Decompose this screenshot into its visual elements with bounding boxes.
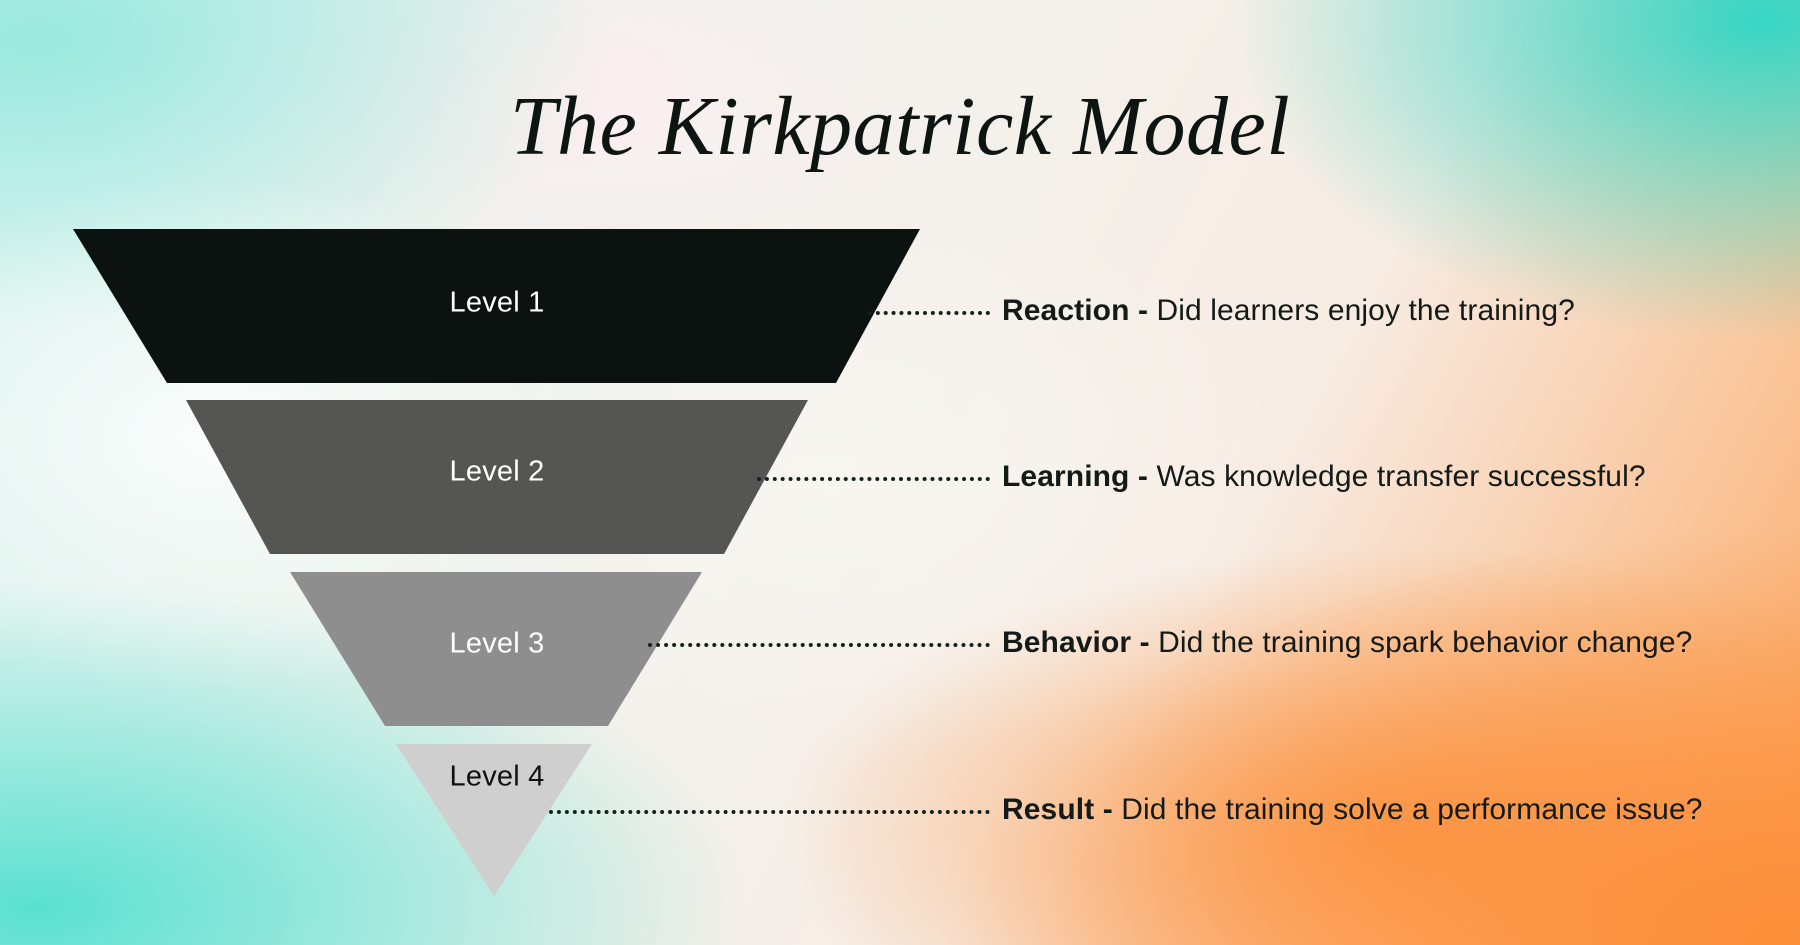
description-dash-level-2 xyxy=(1129,460,1137,493)
description-separator-level-3: - xyxy=(1140,626,1150,659)
description-level-1: Reaction - Did learners enjoy the traini… xyxy=(1002,294,1575,328)
description-level-4: Result - Did the training solve a perfor… xyxy=(1002,793,1703,827)
leader-line-level-1 xyxy=(868,311,990,315)
description-dash-level-1 xyxy=(1130,294,1138,327)
description-body-level-1: Did learners enjoy the training? xyxy=(1156,294,1574,327)
description-body-level-4: Did the training solve a performance iss… xyxy=(1121,793,1702,826)
description-level-2: Learning - Was knowledge transfer succes… xyxy=(1002,460,1646,494)
leader-line-level-4 xyxy=(549,810,990,814)
funnel-diagram: Level 1 Level 2 Level 3 Level 4 xyxy=(0,0,1060,945)
leader-line-level-2 xyxy=(757,477,990,481)
description-separator-level-4: - xyxy=(1103,793,1113,826)
funnel-label-level-2: Level 2 xyxy=(450,456,545,489)
description-separator-level-2: - xyxy=(1138,460,1148,493)
funnel-label-level-3: Level 3 xyxy=(450,628,545,661)
funnel-label-level-4: Level 4 xyxy=(450,761,545,794)
description-term-level-2: Learning xyxy=(1002,460,1129,493)
description-body-level-3: Did the training spark behavior change? xyxy=(1158,626,1692,659)
description-separator-level-1: - xyxy=(1138,294,1148,327)
funnel-label-level-1: Level 1 xyxy=(450,287,545,320)
leader-line-level-3 xyxy=(648,643,990,647)
description-term-level-1: Reaction xyxy=(1002,294,1130,327)
description-term-level-4: Result xyxy=(1002,793,1094,826)
description-body-level-2: Was knowledge transfer successful? xyxy=(1156,460,1645,493)
description-dash-level-3 xyxy=(1131,626,1139,659)
description-term-level-3: Behavior xyxy=(1002,626,1131,659)
description-dash-level-4 xyxy=(1094,793,1102,826)
description-level-3: Behavior - Did the training spark behavi… xyxy=(1002,626,1692,660)
slide-canvas: The Kirkpatrick Model Level 1 Level 2 Le… xyxy=(0,0,1800,945)
